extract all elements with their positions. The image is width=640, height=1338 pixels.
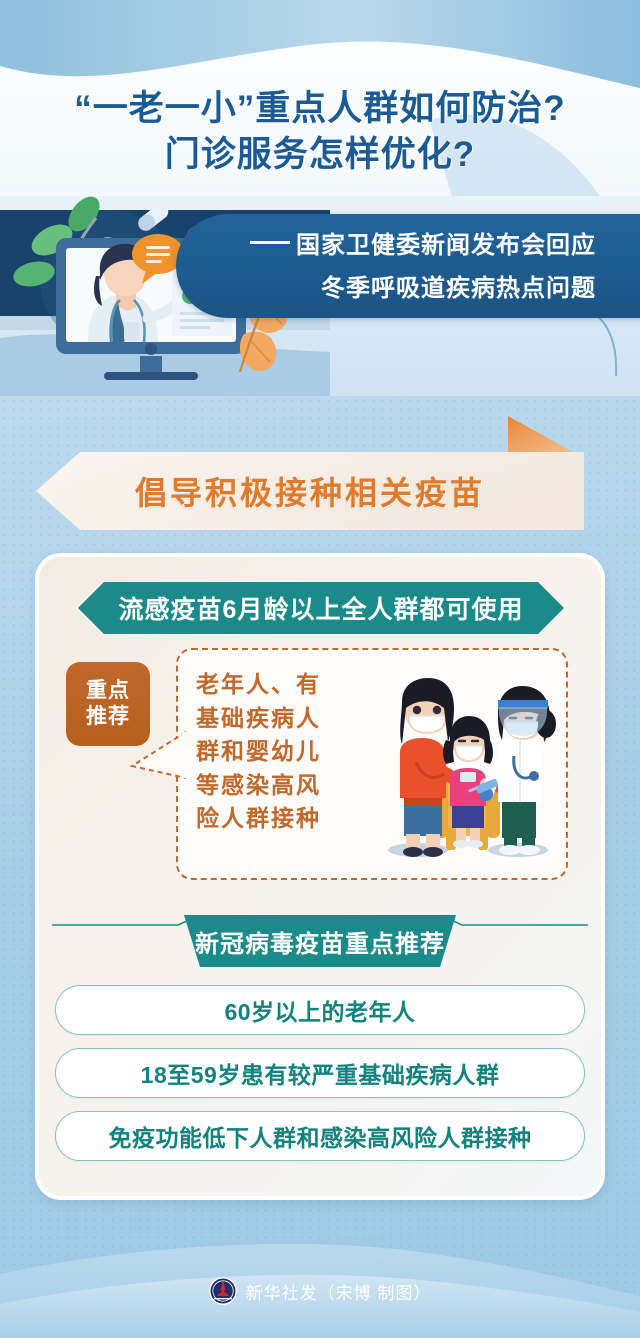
covid-vaccine-header-label-wrap: 新冠病毒疫苗重点推荐: [52, 915, 588, 967]
badge-line-2: 推荐: [86, 704, 130, 730]
section-header-label: 倡导积极接种相关疫苗: [135, 468, 485, 514]
bottom-wave-decoration: [0, 1178, 640, 1338]
covid-item-1: 18至59岁患有较严重基础疾病人群: [55, 1048, 585, 1098]
recommendation-text: 老年人、有 基础疾病人 群和婴幼儿 等感染高风 险人群接种: [196, 668, 368, 836]
covid-vaccine-header-label: 新冠病毒疫苗重点推荐: [195, 924, 445, 959]
subtitle-line-1-row: 国家卫健委新闻发布会回应: [200, 224, 596, 267]
subtitle-dash: [250, 241, 290, 244]
recommendation-line-4: 险人群接种: [196, 802, 368, 836]
recommendation-line-2: 群和婴幼儿: [196, 735, 368, 769]
xinhua-news-agency-logo-icon: [209, 1277, 237, 1305]
covid-item-0: 60岁以上的老年人: [55, 985, 585, 1035]
footer-credit-text: 新华社发（宋博 制图）: [246, 1279, 432, 1304]
subtitle-line-2: 冬季呼吸道疾病热点问题: [200, 267, 596, 310]
recommendation-line-3: 等感染高风: [196, 769, 368, 803]
covid-item-0-label: 60岁以上的老年人: [224, 993, 415, 1027]
badge-line-1: 重点: [86, 678, 130, 704]
infographic-poster: “一老一小”重点人群如何防治? 门诊服务怎样优化?: [0, 0, 640, 1338]
covid-item-1-label: 18至59岁患有较严重基础疾病人群: [141, 1056, 500, 1090]
flu-vaccine-banner-label: 流感疫苗6月龄以上全人群都可使用: [119, 590, 524, 626]
footer-credit: 新华社发（宋博 制图）: [0, 1274, 640, 1308]
subtitle-text-group: 国家卫健委新闻发布会回应 冬季呼吸道疾病热点问题: [200, 224, 620, 310]
vaccination-illustration: [368, 678, 564, 868]
section-header-label-wrap: 倡导积极接种相关疫苗: [36, 452, 584, 530]
covid-item-2-label: 免疫功能低下人群和感染高风险人群接种: [109, 1119, 532, 1153]
key-recommendation-badge: 重点 推荐: [66, 662, 150, 746]
covid-item-2: 免疫功能低下人群和感染高风险人群接种: [55, 1111, 585, 1161]
title-line-1: “一老一小”重点人群如何防治?: [0, 86, 640, 132]
recommendation-line-1: 基础疾病人: [196, 702, 368, 736]
flu-vaccine-banner-label-wrap: 流感疫苗6月龄以上全人群都可使用: [78, 582, 564, 634]
poster-title: “一老一小”重点人群如何防治? 门诊服务怎样优化?: [0, 86, 640, 178]
subtitle-line-1: 国家卫健委新闻发布会回应: [296, 232, 596, 259]
recommendation-line-0: 老年人、有: [196, 668, 368, 702]
title-line-2: 门诊服务怎样优化?: [0, 132, 640, 178]
